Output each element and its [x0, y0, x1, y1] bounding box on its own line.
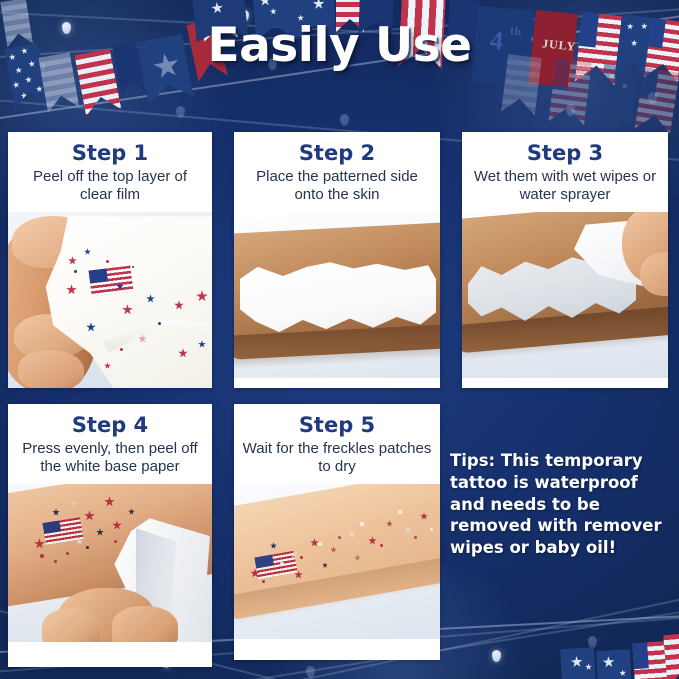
step-card-2: Step 2 Place the patterned side onto the… — [234, 132, 440, 388]
step-description: Place the patterned side onto the skin — [242, 168, 432, 205]
infographic-page: 4 th JULY — [0, 0, 679, 679]
step-photo — [234, 484, 440, 639]
step-card-1: Step 1 Peel off the top layer of clear f… — [8, 132, 212, 388]
step-photo — [462, 212, 668, 378]
step-photo — [8, 212, 212, 388]
step-description: Press evenly, then peel off the white ba… — [16, 440, 204, 477]
step-title: Step 5 — [242, 414, 432, 437]
step-text-block: Step 3 Wet them with wet wipes or water … — [462, 132, 668, 212]
step-card-5: Step 5 Wait for the freckles patches to … — [234, 404, 440, 660]
step-description: Wet them with wet wipes or water sprayer — [470, 168, 660, 205]
tips-text: Tips: This temporary tattoo is waterproo… — [450, 450, 666, 559]
step-card-3: Step 3 Wet them with wet wipes or water … — [462, 132, 668, 388]
step-title: Step 2 — [242, 142, 432, 165]
light-bulb-icon — [588, 636, 597, 648]
step-description: Wait for the freckles patches to dry — [242, 440, 432, 477]
light-bulb-icon — [176, 106, 185, 118]
step-card-4: Step 4 Press evenly, then peel off the w… — [8, 404, 212, 667]
bunting-flag-icon — [560, 647, 597, 679]
step-text-block: Step 2 Place the patterned side onto the… — [234, 132, 440, 212]
step-photo — [234, 212, 440, 378]
step-text-block: Step 4 Press evenly, then peel off the w… — [8, 404, 212, 484]
light-bulb-icon — [306, 666, 315, 678]
step-description: Peel off the top layer of clear film — [16, 168, 204, 205]
bunting-flag-icon — [596, 63, 640, 129]
light-bulb-icon — [648, 92, 657, 104]
light-bulb-icon — [340, 114, 349, 126]
step-text-block: Step 1 Peel off the top layer of clear f… — [8, 132, 212, 212]
bunting-flag-icon — [632, 641, 672, 679]
step-photo — [8, 484, 212, 642]
step-title: Step 4 — [16, 414, 204, 437]
light-bulb-icon — [566, 104, 575, 116]
light-bulb-icon — [492, 650, 501, 662]
step-title: Step 1 — [16, 142, 204, 165]
step-text-block: Step 5 Wait for the freckles patches to … — [234, 404, 440, 484]
bunting-flag-icon — [596, 649, 633, 679]
page-title: Easily Use — [0, 22, 679, 69]
bunting-flag-icon — [635, 67, 679, 134]
bunting-flag-icon — [663, 633, 679, 679]
step-title: Step 3 — [470, 142, 660, 165]
